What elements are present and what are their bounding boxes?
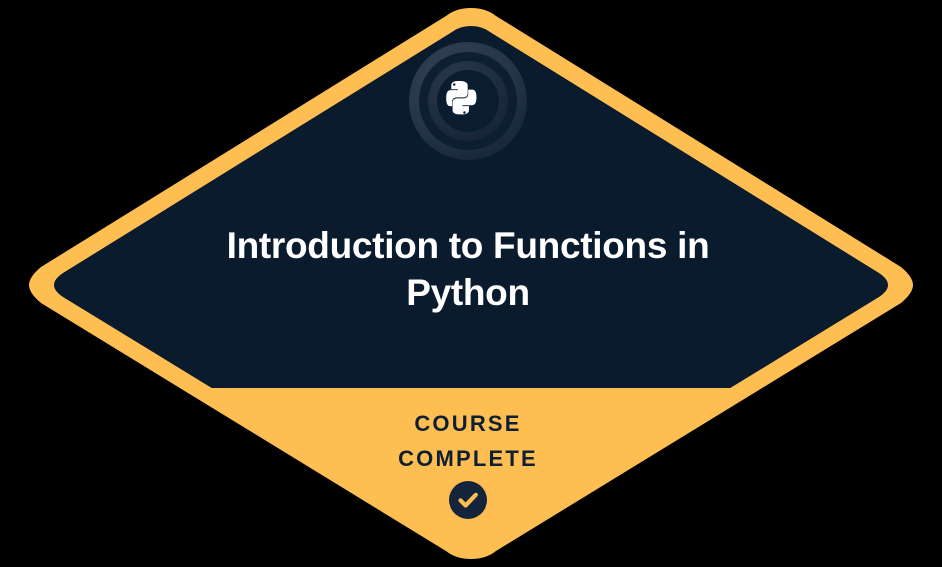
badge-graphic xyxy=(0,0,942,567)
course-completion-badge: Introduction to Functions in Python COUR… xyxy=(0,0,942,567)
